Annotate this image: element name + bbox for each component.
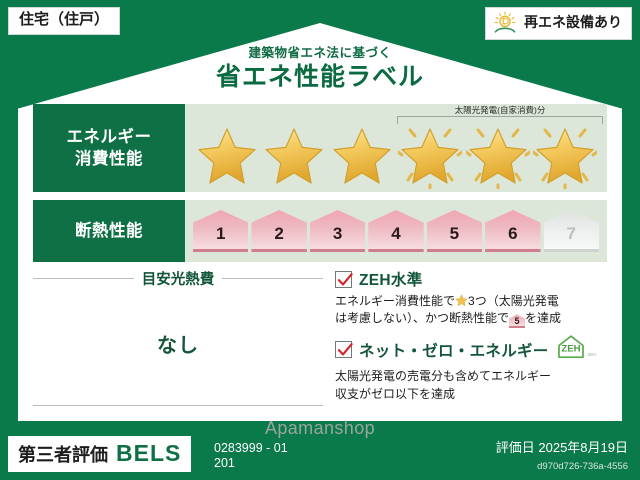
star-glyph [398,125,462,189]
energy-performance-body: 太陽光発電(自家消費)分 [185,104,607,192]
cost-rule-left [33,278,134,279]
star-rating [185,124,607,189]
evaluation-date: 評価日 2025年8月19日 [496,437,628,456]
zeh-logo-svg: ZEH ZEH [556,334,600,360]
solar-annotation-bracket [397,116,603,124]
label-title-block: 建築物省エネ法に基づく 省エネ性能ラベル [0,42,640,92]
net-zero-desc-line1: 太陽光発電の売電分も含めてエネルギー [335,369,551,383]
star-glyph [330,125,394,189]
star-icon-solar [533,125,597,189]
zeh-desc-star-count: 3つ（太陽光発電 [468,294,559,308]
zeh-house-logo-icon: ZEH ZEH [556,334,600,365]
net-zero-title-row: ネット・ゼロ・エネルギー ZEH ZEH [335,334,607,365]
energy-performance-label: エネルギー 消費性能 [33,104,185,192]
net-zero-desc-line2: 収支がゼロ以下を達成 [335,387,455,401]
certification-zeh-standard: ZEH水準 エネルギー消費性能で3つ（太陽光発電は考慮しない）、かつ断熱性能で5… [335,268,607,328]
energy-label-line2: 消費性能 [75,148,143,170]
energy-label-line1: エネルギー [67,126,152,148]
housing-type-tag: 住宅（住戸） [8,7,120,35]
title-subtitle: 建築物省エネ法に基づく [0,42,640,61]
utility-cost-value: なし [33,329,323,358]
cost-rule-right [222,278,323,279]
insulation-grade-5: 5 [427,210,482,252]
utility-cost-heading: 目安光熱費 [33,268,323,289]
star-icon-solar [398,125,462,189]
sun-icon [492,11,518,35]
cost-bottom-rule [33,405,323,406]
evaluation-hash: d970d726-736a-4556 [537,461,628,472]
insulation-performance-body: 1234567 [185,200,607,262]
bels-badge: 第三者評価 BELS [8,436,191,472]
insulation-label-text: 断熱性能 [75,220,143,242]
footer-bar: 第三者評価 BELS 0283999 - 01 201 評価日 2025年8月1… [0,422,640,480]
inline-star-icon [455,294,468,307]
star-glyph [533,125,597,189]
checkbox-icon [335,271,352,288]
svg-text:ZEH: ZEH [561,344,580,355]
insulation-grade-6: 6 [485,210,540,252]
certification-section: ZEH水準 エネルギー消費性能で3つ（太陽光発電は考慮しない）、かつ断熱性能で5… [335,268,607,409]
insulation-performance-row: 断熱性能 1234567 [33,200,607,262]
star-glyph [466,125,530,189]
zeh-standard-title-row: ZEH水準 [335,268,607,290]
bels-en-label: BELS [116,440,181,467]
inline-grade-badge: 5 [509,314,525,328]
svg-text:ZEH: ZEH [587,352,596,357]
solar-annotation-text: 太陽光発電(自家消費)分 [397,106,603,115]
insulation-grade-2: 2 [251,210,306,252]
star-icon [330,125,394,189]
renewable-equipment-badge: 再エネ設備あり [485,7,632,40]
zeh-standard-description: エネルギー消費性能で3つ（太陽光発電は考慮しない）、かつ断熱性能で5を達成 [335,293,607,328]
solar-generation-annotation: 太陽光発電(自家消費)分 [397,106,603,124]
star-icon [195,125,259,189]
page-title: 省エネ性能ラベル [0,63,640,92]
star-icon [262,125,326,189]
net-zero-title: ネット・ゼロ・エネルギー [359,339,549,361]
star-glyph [262,125,326,189]
zeh-standard-title: ZEH水準 [359,268,423,290]
insulation-grade-3: 3 [310,210,365,252]
insulation-grade-scale: 1234567 [185,200,607,262]
renewable-badge-label: 再エネ設備あり [524,15,622,30]
check-icon [337,342,353,358]
zeh-desc-part3: を達成 [525,311,561,325]
zeh-desc-part1: エネルギー消費性能で [335,294,455,308]
checkbox-icon [335,341,352,358]
energy-label-root: 住宅（住戸） 再エネ設備あり 建築物省エネ法に基づく [0,0,640,480]
star-glyph [195,125,259,189]
lower-content: 目安光熱費 なし ZEH水準 エネルギー消費性能で3つ（太陽光発電は考 [33,268,607,416]
bels-jp-label: 第三者評価 [18,441,108,467]
energy-performance-row: エネルギー 消費性能 太陽光発電(自家消費)分 [33,104,607,192]
insulation-grade-4: 4 [368,210,423,252]
check-icon [337,272,353,288]
star-icon-solar [466,125,530,189]
insulation-grade-7: 7 [544,210,599,252]
insulation-grade-1: 1 [193,210,248,252]
insulation-performance-label: 断熱性能 [33,200,185,262]
bels-id-number: 0283999 - 01 201 [214,441,288,472]
zeh-desc-part2: は考慮しない）、かつ断熱性能で [335,311,509,325]
net-zero-description: 太陽光発電の売電分も含めてエネルギー 収支がゼロ以下を達成 [335,368,607,403]
utility-cost-section: 目安光熱費 なし [33,268,323,416]
certification-net-zero-energy: ネット・ゼロ・エネルギー ZEH ZEH 太陽光発電の売電分も含めてエネルギー … [335,334,607,403]
utility-cost-heading-text: 目安光熱費 [142,268,215,289]
sun-icon-svg [492,11,518,35]
